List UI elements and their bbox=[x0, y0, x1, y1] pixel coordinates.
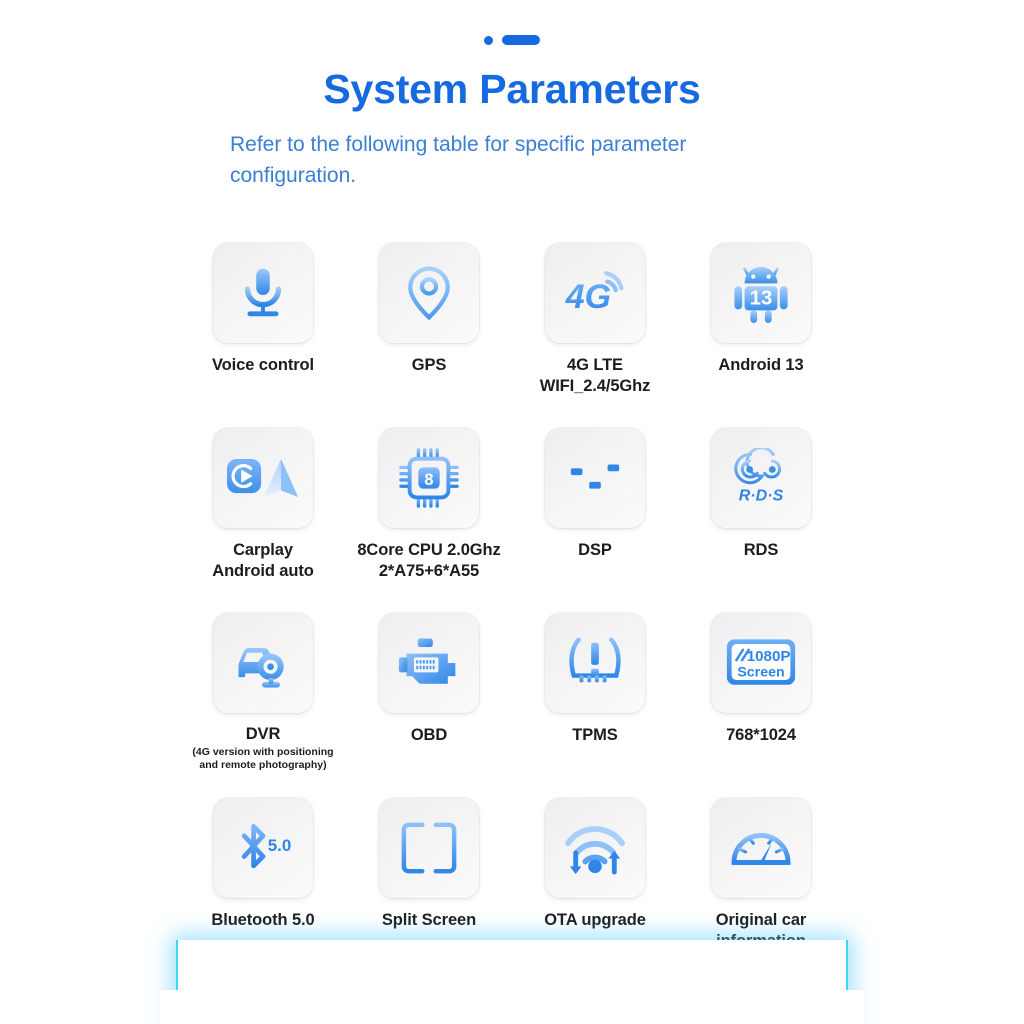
dot-dash-ornament-icon bbox=[0, 32, 1024, 48]
ornament-dot bbox=[484, 36, 493, 45]
feature-label: Bluetooth 5.0 bbox=[211, 910, 314, 931]
microphone-icon bbox=[232, 262, 294, 324]
split-screen-icon bbox=[398, 819, 460, 877]
feature-label: DVR bbox=[246, 724, 281, 745]
feature-cell-voice-control[interactable]: Voice control bbox=[180, 243, 346, 428]
feature-tile: 8 bbox=[379, 428, 479, 528]
feature-label: 768*1024 bbox=[726, 725, 796, 746]
feature-label: 4G LTE WIFI_2.4/5Ghz bbox=[540, 355, 651, 397]
feature-tile bbox=[545, 428, 645, 528]
feature-label: GPS bbox=[412, 355, 447, 376]
feature-cell-carplay-android-auto[interactable]: Carplay Android auto bbox=[180, 428, 346, 613]
feature-label: RDS bbox=[744, 540, 779, 561]
page-header: System Parameters Refer to the following… bbox=[0, 0, 1024, 191]
feature-label: OBD bbox=[411, 725, 447, 746]
car-dashcam-icon bbox=[231, 634, 295, 692]
feature-tile bbox=[545, 798, 645, 898]
feature-cell-cpu[interactable]: 8 8Core CPU 2.0Ghz 2*A75+6*A55 bbox=[346, 428, 512, 613]
ota-upgrade-icon bbox=[562, 820, 628, 876]
tpms-tire-icon bbox=[565, 635, 625, 691]
feature-cell-rds[interactable]: R·D·S RDS bbox=[678, 428, 844, 613]
screen-res-text: 1080P bbox=[747, 648, 791, 665]
feature-tile: R·D·S bbox=[711, 428, 811, 528]
speedometer-icon bbox=[729, 820, 793, 876]
feature-cell-screen-resolution[interactable]: 1080P Screen 768*1024 bbox=[678, 613, 844, 798]
map-pin-icon bbox=[399, 263, 459, 323]
equalizer-sliders-icon bbox=[566, 449, 624, 507]
four-g-signal-icon: 4G bbox=[562, 262, 628, 324]
feature-label: Voice control bbox=[212, 355, 314, 376]
feature-tile bbox=[379, 613, 479, 713]
feature-tile bbox=[711, 798, 811, 898]
rds-logo-icon: R·D·S bbox=[727, 448, 795, 508]
feature-tile: 13 bbox=[711, 243, 811, 343]
feature-label: DSP bbox=[578, 540, 612, 561]
page-subtitle: Refer to the following table for specifi… bbox=[222, 129, 802, 191]
ornament-dash bbox=[502, 35, 540, 45]
feature-tile bbox=[379, 243, 479, 343]
feature-tile bbox=[213, 243, 313, 343]
rds-text: R·D·S bbox=[739, 487, 784, 505]
feature-cell-gps[interactable]: GPS bbox=[346, 243, 512, 428]
feature-cell-obd[interactable]: OBD bbox=[346, 613, 512, 798]
feature-tile: 1080P Screen bbox=[711, 613, 811, 713]
system-parameters-page: System Parameters Refer to the following… bbox=[0, 0, 1024, 1024]
cpu-cores-text: 8 bbox=[424, 471, 433, 489]
feature-sublabel: (4G version with positioning and remote … bbox=[192, 746, 333, 772]
feature-tile: 5.0 bbox=[213, 798, 313, 898]
feature-label: 8Core CPU 2.0Ghz 2*A75+6*A55 bbox=[357, 540, 500, 582]
bluetooth-5-icon: 5.0 bbox=[231, 818, 295, 878]
bottom-mask bbox=[160, 990, 864, 1024]
android-version-text: 13 bbox=[750, 288, 773, 310]
android-robot-13-icon: 13 bbox=[732, 262, 790, 324]
engine-obd-icon bbox=[397, 636, 461, 690]
feature-tile bbox=[379, 798, 479, 898]
feature-label: Carplay Android auto bbox=[212, 540, 313, 582]
page-title: System Parameters bbox=[0, 66, 1024, 113]
feature-cell-dvr[interactable]: DVR (4G version with positioning and rem… bbox=[180, 613, 346, 798]
svg-text:4G: 4G bbox=[565, 278, 611, 316]
feature-label: TPMS bbox=[572, 725, 617, 746]
feature-grid: Voice control GPS 4G bbox=[180, 243, 844, 983]
feature-label: OTA upgrade bbox=[544, 910, 646, 931]
feature-label: Split Screen bbox=[382, 910, 476, 931]
feature-cell-tpms[interactable]: TPMS bbox=[512, 613, 678, 798]
feature-tile bbox=[213, 428, 313, 528]
screen-1080p-icon: 1080P Screen bbox=[725, 635, 797, 691]
feature-cell-android-13[interactable]: 13 Android 13 bbox=[678, 243, 844, 428]
feature-cell-dsp[interactable]: DSP bbox=[512, 428, 678, 613]
feature-tile bbox=[213, 613, 313, 713]
screen-word-text: Screen bbox=[737, 664, 784, 680]
feature-tile bbox=[545, 613, 645, 713]
feature-label: Android 13 bbox=[718, 355, 803, 376]
carplay-android-auto-icon bbox=[226, 449, 300, 507]
feature-tile: 4G bbox=[545, 243, 645, 343]
feature-cell-4g-lte[interactable]: 4G 4G LTE WIFI_2.4/5Ghz bbox=[512, 243, 678, 428]
bluetooth-version-text: 5.0 bbox=[268, 836, 292, 855]
cpu-chip-8-icon: 8 bbox=[398, 447, 460, 509]
